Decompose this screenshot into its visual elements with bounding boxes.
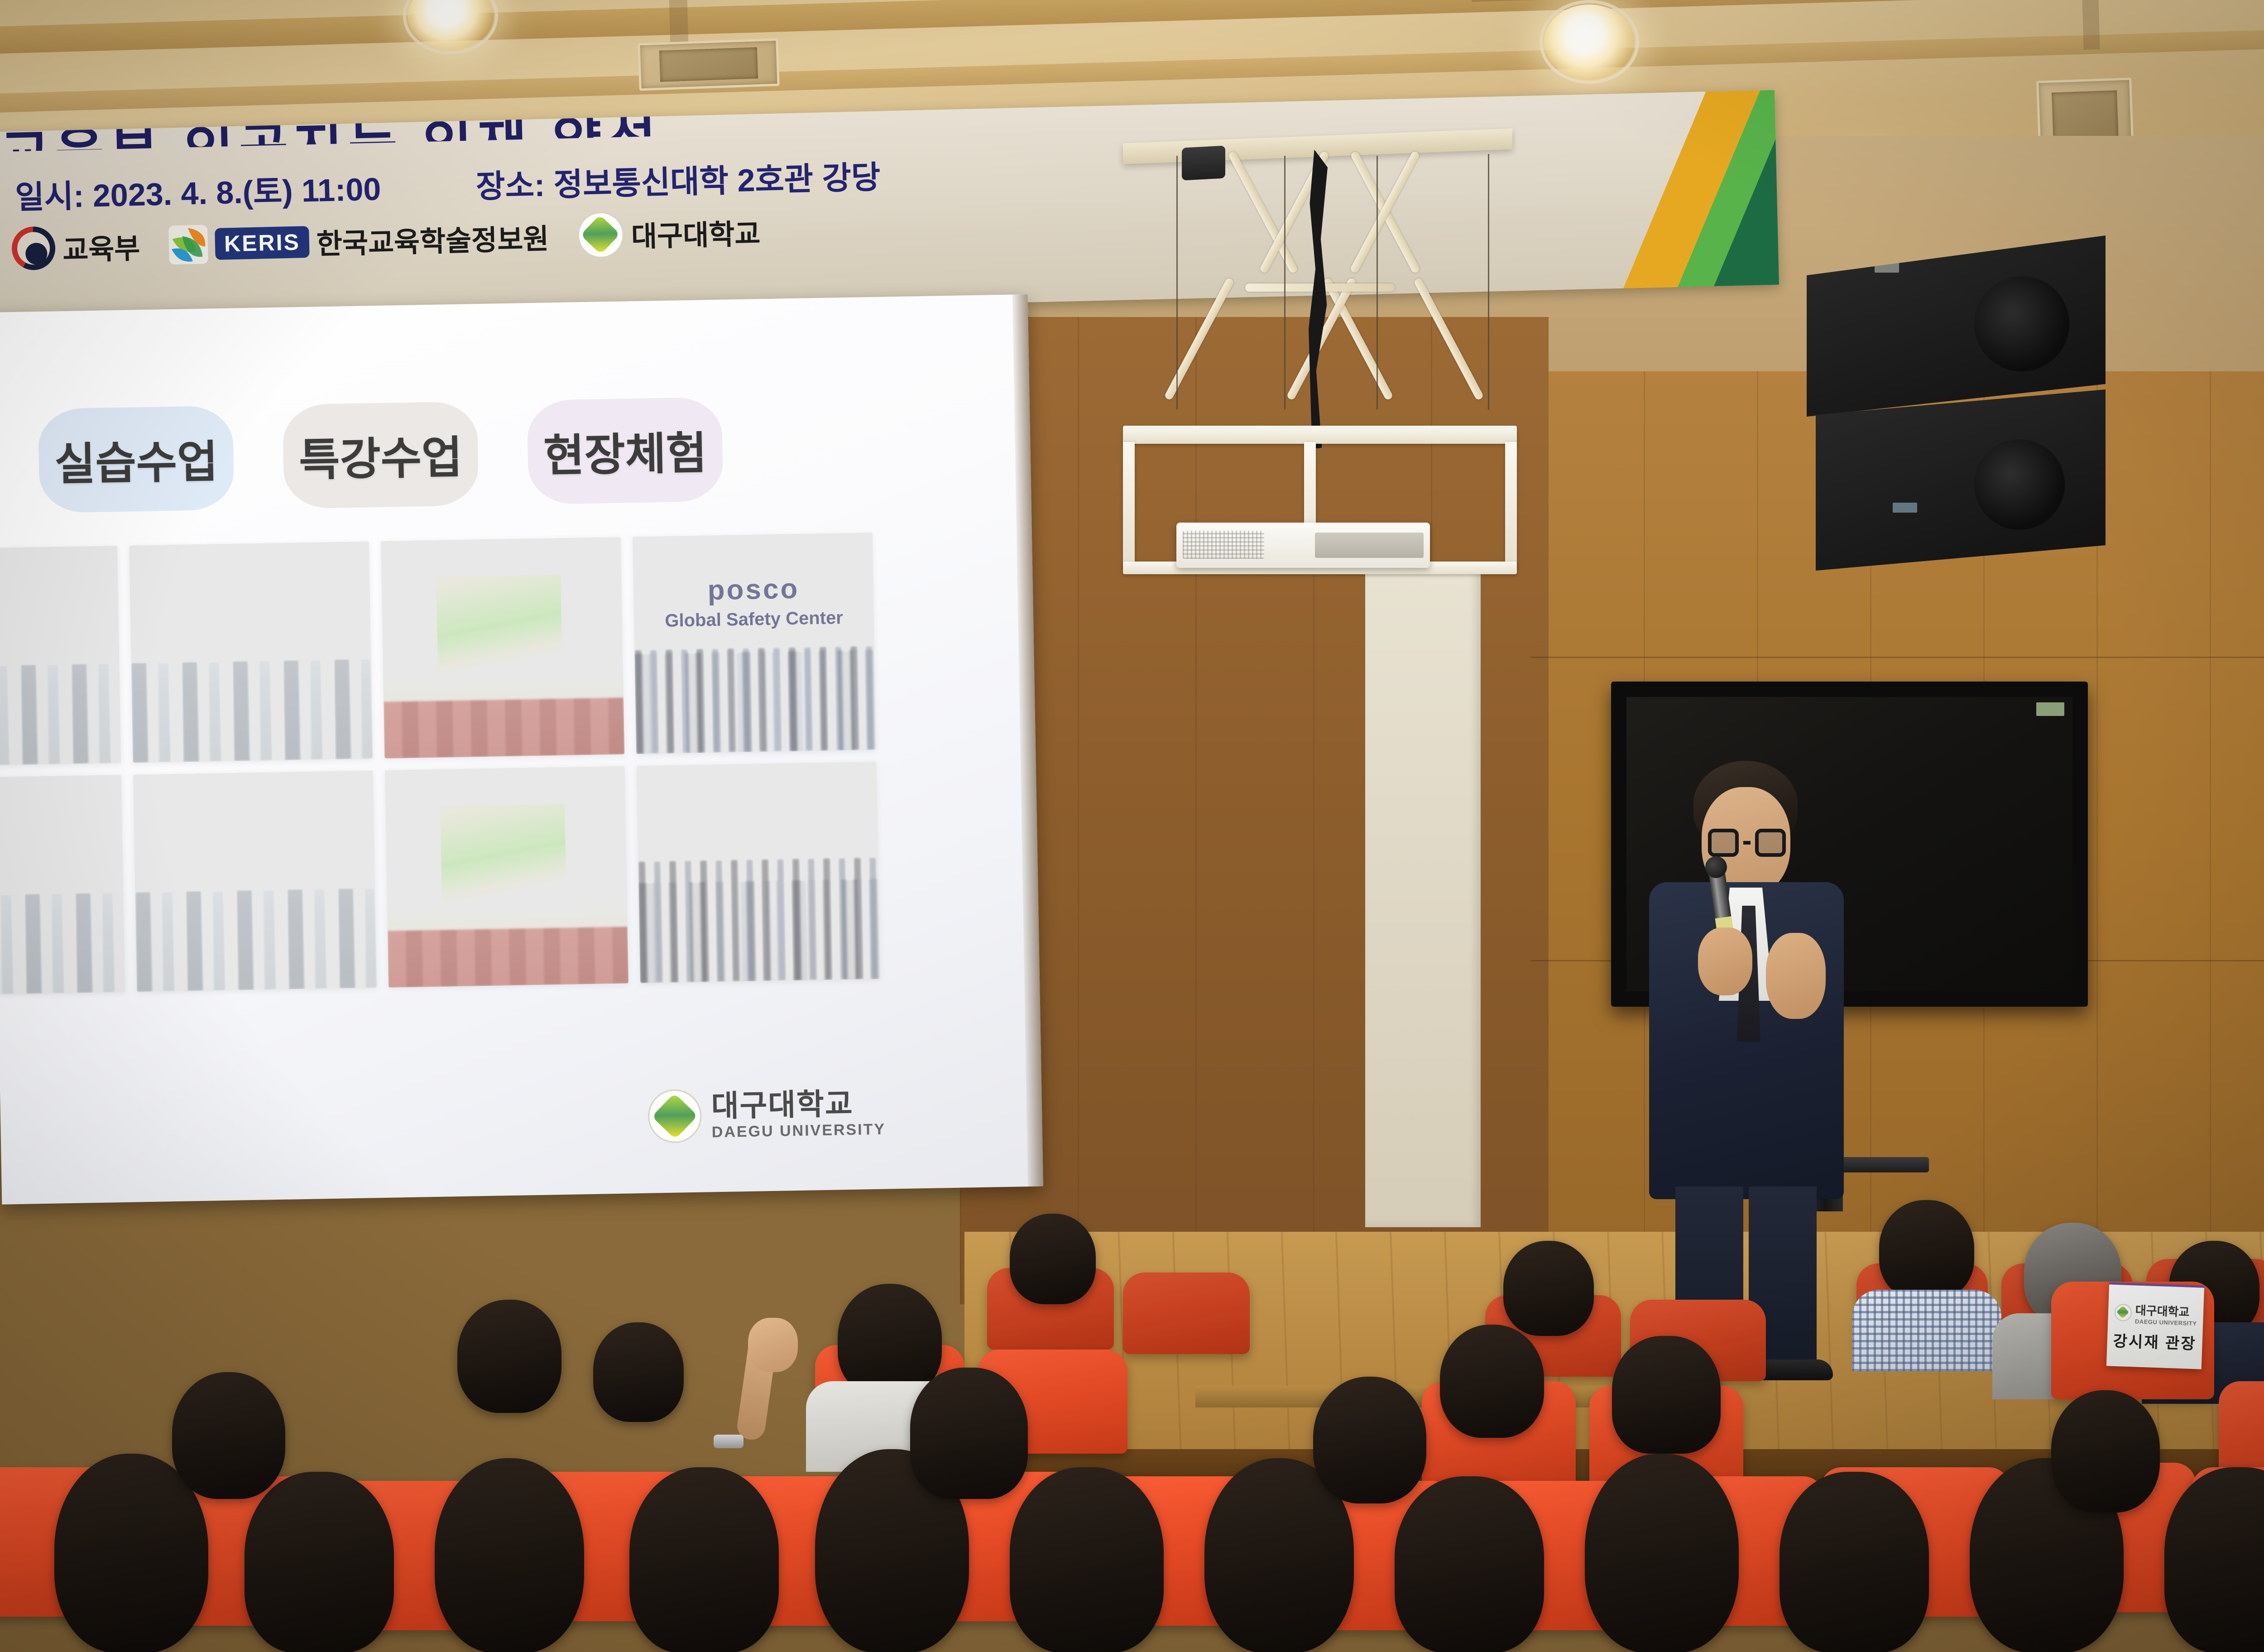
slide-pill-row: 실습수업 특강수업 현장체험 [38,397,724,513]
stage-door[interactable] [1365,566,1481,1227]
audience-head [1313,1377,1426,1503]
audience-head-foreground [1395,1476,1544,1652]
audience-head-foreground [629,1467,779,1652]
audience-head [1612,1336,1721,1454]
audience-head [457,1300,561,1413]
audience-head [172,1372,285,1499]
photo-classroom-edge [0,546,121,766]
seatcard-daegu-emblem-icon [2114,1303,2132,1321]
downlight-2 [1544,5,1635,79]
slide-pill-field-experience: 현장체험 [527,397,724,504]
audience-head-foreground [435,1458,584,1652]
moe-logo-label: 교육부 [62,226,140,268]
seatcard-name: 강시재 관장 [2113,1328,2197,1353]
keris-badge-label: KERIS [215,226,309,260]
audience-area: 대구대학교 DAEGU UNIVERSITY 강시재 관장 [0,1186,2264,1652]
daegu-university-logo-label: 대구대학교 [631,211,761,255]
audience-head [838,1284,942,1397]
photo-seminar-hall [385,766,628,988]
daegu-university-emblem-icon [577,211,624,259]
daegu-university-logo: 대구대학교 [577,208,761,259]
audience-head-foreground [1010,1467,1164,1652]
projection-screen: 실습수업 특강수업 현장체험 posco Global Safety Cente… [0,294,1043,1205]
ceiling-projector [1176,523,1430,568]
ceiling-vent-1 [638,38,779,91]
slide-pill-special-lecture: 특강수업 [283,401,479,509]
raised-hand [748,1318,798,1372]
wristwatch [714,1435,743,1448]
projector-lift [1123,136,1549,589]
audience-head [1010,1214,1096,1304]
audience-head [910,1368,1028,1499]
photo-lab-row [0,775,125,995]
wall-seam-1 [1530,657,2264,658]
slide-logo-korean: 대구대학교 [711,1088,885,1121]
projector-port-panel [1315,533,1424,558]
presenter-left-hand [1698,927,1752,995]
photo-students-seated [637,762,880,983]
projector-cage [1123,426,1521,575]
keris-leaf-icon [168,225,208,264]
slide-pill-practice: 실습수업 [38,406,235,513]
safety-wire-2 [1284,156,1285,409]
slide-footer-logo: 대구대학교 DAEGU UNIVERSITY [648,1086,886,1143]
audience-head [593,1322,684,1422]
audience-head [1503,1241,1594,1336]
audience-shoulders [1852,1290,2001,1371]
presenter-glasses-icon [1708,829,1786,857]
audience-head [1879,1200,1974,1300]
audience-head-foreground [245,1472,394,1652]
safety-wire-3 [1377,156,1378,409]
safety-wire-1 [1176,156,1178,409]
line-array-speaker-bottom [1816,389,2106,571]
auditorium-scene: 교육부 인공지능 인재 양성 일시: 2023. 4. 8.(토) 11:00 … [0,0,2264,1652]
banner-logo-row: 교육부 KERIS 한국교육학술정보원 대구대학교 [11,208,761,272]
moe-logo: 교육부 [11,224,140,271]
seatcard-org-korean: 대구대학교 [2135,1301,2190,1320]
photo-computer-lab [129,541,373,763]
seat[interactable] [1123,1273,1250,1354]
photo-lab-wide [133,770,377,992]
slide-logo-english: DAEGU UNIVERSITY [712,1122,886,1140]
audience-head [1440,1325,1544,1438]
ceiling-panel-seam-c [2082,0,2100,50]
photo-posco-group: posco Global Safety Center [633,533,876,754]
slide-daegu-emblem-icon [648,1089,702,1143]
keris-logo: KERIS 한국교육학술정보원 [168,216,549,266]
keris-logo-label: 한국교육학술정보원 [316,216,549,262]
safety-wire-4 [1488,154,1489,410]
audience-head [2051,1390,2160,1513]
photo-auditorium-lecture [381,537,624,759]
banner-place: 장소: 정보통신대학 2호관 강당 [475,152,881,207]
presenter-right-hand [1766,933,1826,1019]
projector-vent-grill [1183,531,1264,559]
downlight-1 [408,0,494,50]
audience-head-foreground [1780,1472,1929,1652]
banner-date: 일시: 2023. 4. 8.(토) 11:00 [14,163,381,218]
display-asset-tag [2036,702,2064,716]
photo-posco-caption: posco Global Safety Center [633,571,874,632]
seat-name-card: 대구대학교 DAEGU UNIVERSITY 강시재 관장 [2106,1282,2204,1369]
moe-taegeuk-icon [11,226,56,270]
audience-head-foreground [1585,1454,1739,1652]
slide-photo-grid: posco Global Safety Center [0,532,908,995]
